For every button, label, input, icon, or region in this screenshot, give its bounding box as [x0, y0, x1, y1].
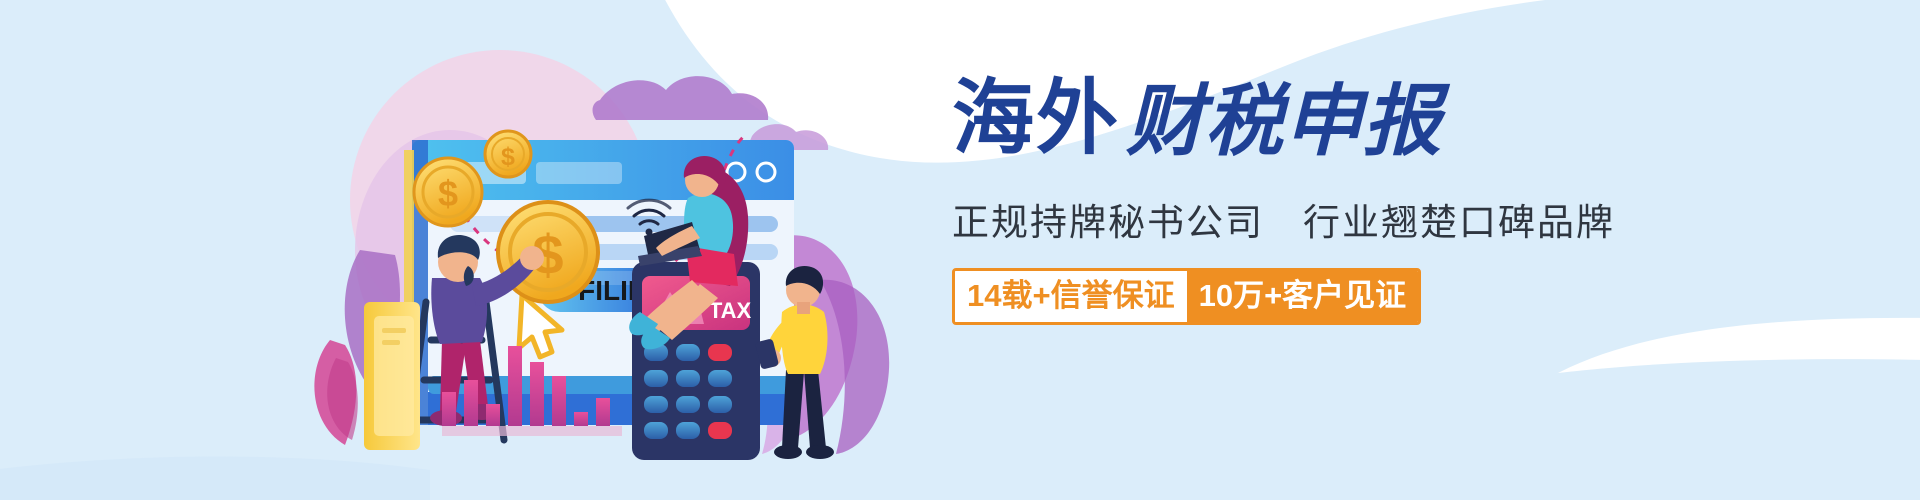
status-badge-clients: 10万+客户见证 — [1187, 271, 1419, 322]
page-title: 海外财税申报 — [952, 78, 1712, 178]
document-icon — [364, 302, 420, 450]
promo-banner: FILING $ $ — [0, 0, 1920, 500]
subtitle: 正规持牌秘书公司 行业翘楚口碑品牌 — [952, 192, 1712, 246]
svg-text:$: $ — [438, 173, 458, 214]
headline-sub: 财税申报 — [1126, 82, 1442, 160]
badge-group: 14载+信誉保证 10万+客户见证 — [952, 268, 1421, 325]
banner-text-block: 海外财税申报 正规持牌秘书公司 行业翘楚口碑品牌 14载+信誉保证 10万+客户… — [952, 78, 1712, 378]
status-badge-tenure: 14载+信誉保证 — [955, 271, 1187, 322]
headline-main: 海外 — [952, 78, 1120, 160]
calculator-label: TAX — [709, 298, 752, 323]
svg-text:$: $ — [501, 143, 515, 171]
hero-illustration: FILING $ $ — [300, 40, 940, 460]
